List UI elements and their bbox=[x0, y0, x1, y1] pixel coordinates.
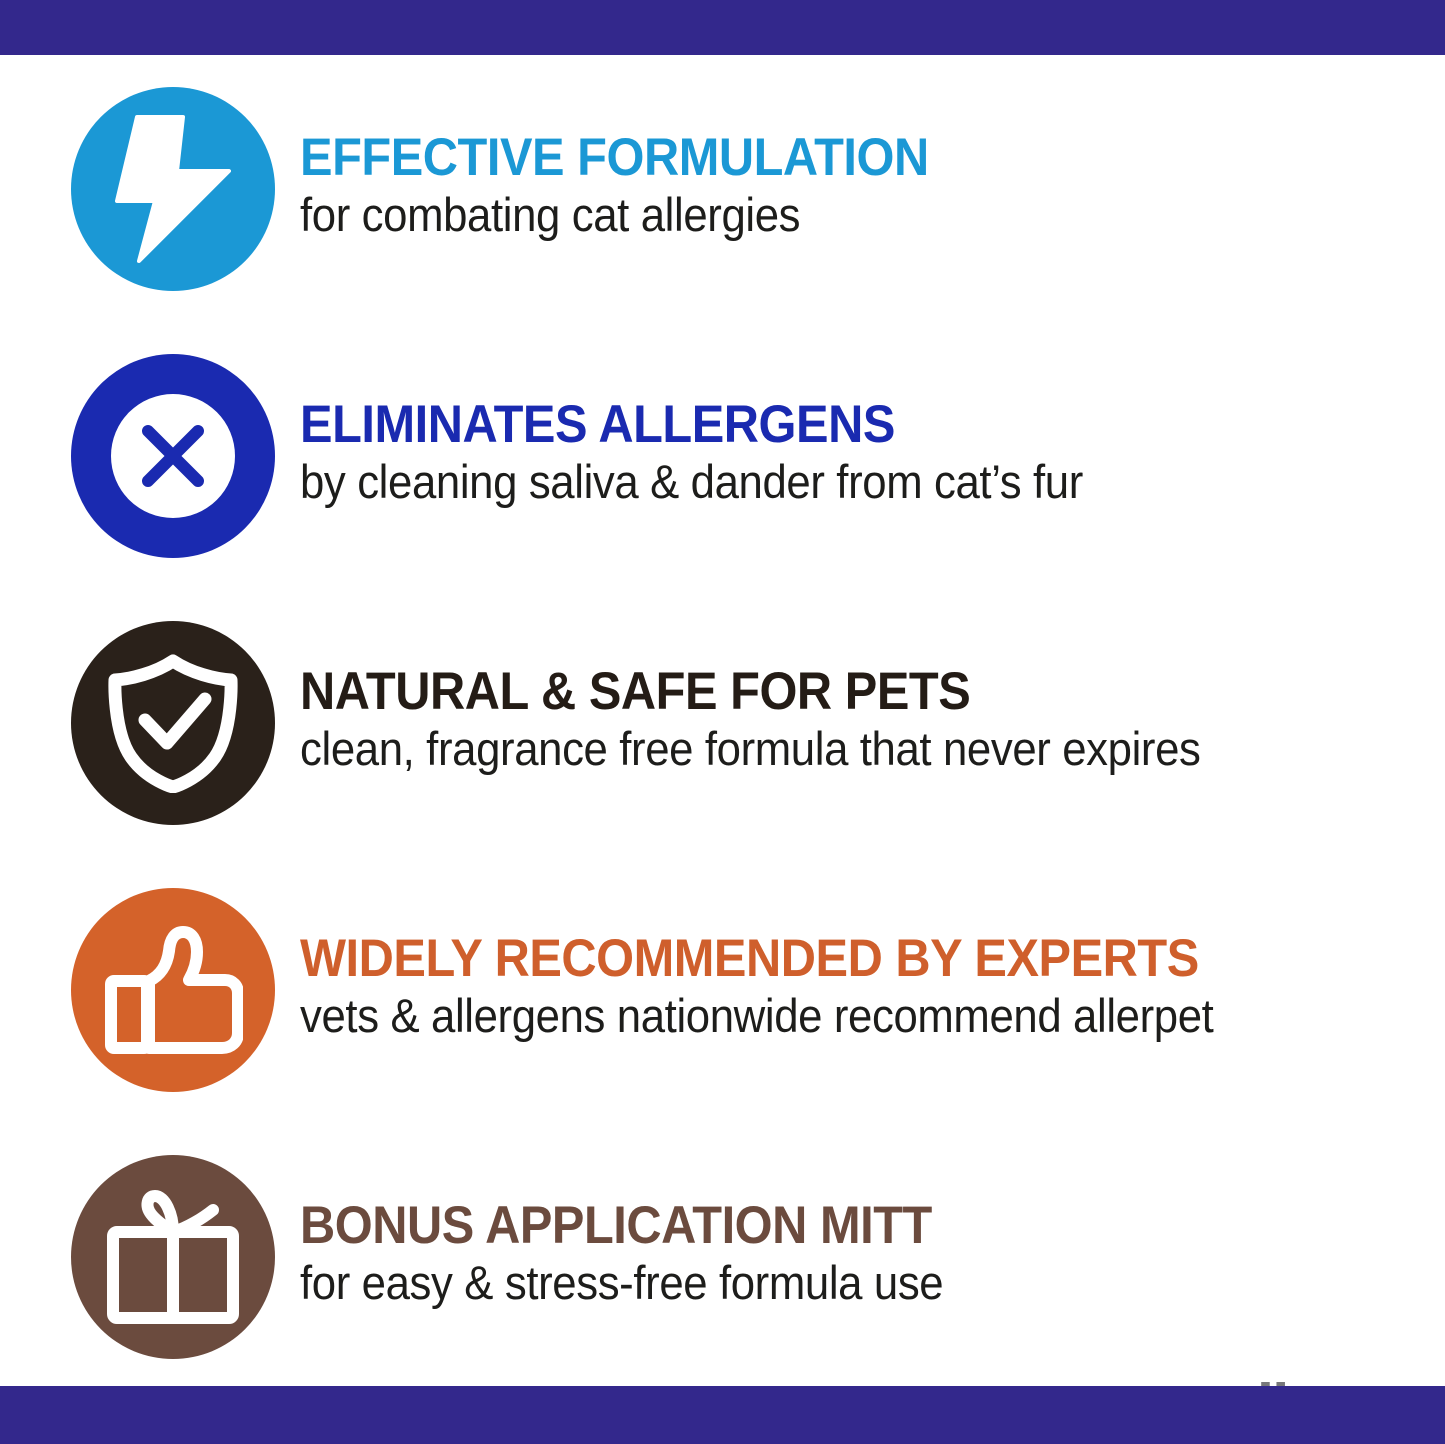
feature-text-block: EFFECTIVE FORMULATION for combating cat … bbox=[275, 131, 1445, 239]
feature-subheading: for easy & stress-free formula use bbox=[300, 1258, 1365, 1307]
feature-row: NATURAL & SAFE FOR PETS clean, fragrance… bbox=[71, 589, 1445, 856]
feature-row: WIDELY RECOMMENDED BY EXPERTS vets & all… bbox=[71, 856, 1445, 1123]
feature-text-block: WIDELY RECOMMENDED BY EXPERTS vets & all… bbox=[275, 932, 1445, 1040]
feature-text-block: BONUS APPLICATION MITT for easy & stress… bbox=[275, 1199, 1445, 1307]
product-feature-infographic: EFFECTIVE FORMULATION for combating cat … bbox=[0, 0, 1445, 1444]
gift-box-icon bbox=[103, 1186, 243, 1328]
top-accent-band bbox=[0, 0, 1445, 55]
feature-row: ELIMINATES ALLERGENS by cleaning saliva … bbox=[71, 322, 1445, 589]
x-circle-icon bbox=[98, 381, 248, 531]
x-circle-icon-badge bbox=[71, 354, 275, 558]
lightning-bolt-icon-badge bbox=[71, 87, 275, 291]
bottom-accent-band bbox=[0, 1386, 1445, 1444]
thumbs-up-icon bbox=[103, 923, 243, 1057]
feature-subheading: for combating cat allergies bbox=[300, 190, 1365, 239]
lightning-bolt-icon bbox=[115, 115, 231, 263]
feature-subheading: vets & allergens nationwide recommend al… bbox=[300, 991, 1365, 1040]
feature-heading: NATURAL & SAFE FOR PETS bbox=[300, 665, 1353, 718]
gift-box-icon-badge bbox=[71, 1155, 275, 1359]
feature-list: EFFECTIVE FORMULATION for combating cat … bbox=[0, 55, 1445, 1386]
shield-check-icon-badge bbox=[71, 621, 275, 825]
feature-heading: WIDELY RECOMMENDED BY EXPERTS bbox=[300, 932, 1353, 985]
feature-row: BONUS APPLICATION MITT for easy & stress… bbox=[71, 1123, 1445, 1390]
feature-text-block: ELIMINATES ALLERGENS by cleaning saliva … bbox=[275, 398, 1445, 506]
feature-subheading: clean, fragrance free formula that never… bbox=[300, 724, 1365, 773]
thumbs-up-icon-badge bbox=[71, 888, 275, 1092]
feature-text-block: NATURAL & SAFE FOR PETS clean, fragrance… bbox=[275, 665, 1445, 773]
feature-row: EFFECTIVE FORMULATION for combating cat … bbox=[71, 55, 1445, 322]
feature-heading: ELIMINATES ALLERGENS bbox=[300, 398, 1353, 451]
shield-check-icon bbox=[105, 653, 241, 793]
feature-subheading: by cleaning saliva & dander from cat’s f… bbox=[300, 457, 1365, 506]
feature-heading: BONUS APPLICATION MITT bbox=[300, 1199, 1353, 1252]
feature-heading: EFFECTIVE FORMULATION bbox=[300, 131, 1353, 184]
